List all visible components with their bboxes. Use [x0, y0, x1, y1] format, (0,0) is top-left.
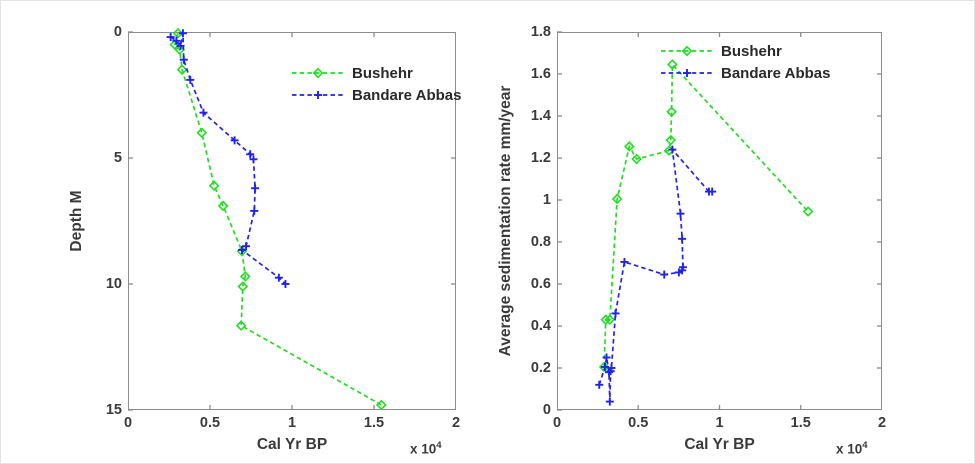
legend-sample-bandare-abbas — [291, 88, 345, 102]
x-tick-label: 2 — [452, 415, 460, 431]
legend-label-bushehr: Bushehr — [721, 43, 782, 60]
x-tick-label: 2 — [878, 415, 886, 431]
legend-sample-bushehr — [291, 66, 345, 80]
legend-entry-bushehr: Bushehr — [291, 62, 461, 84]
figure-root: 00.511.52051015 Cal Yr BP Depth M x 104 … — [0, 0, 975, 464]
x-tick-label: 0.5 — [628, 415, 648, 431]
plus-marker — [251, 184, 259, 192]
legend-sedrate: Bushehr Bandare Abbas — [660, 40, 830, 84]
plus-marker — [683, 69, 691, 77]
legend-line-sample — [660, 44, 714, 58]
chart-panel-depth: 00.511.52051015 Cal Yr BP Depth M x 104 … — [0, 0, 490, 464]
x-tick-label: 0 — [124, 415, 132, 431]
diamond-marker — [377, 401, 385, 409]
plus-marker — [612, 309, 620, 317]
exponent-power: 4 — [862, 440, 867, 451]
plus-marker — [603, 354, 611, 362]
legend-entry-bandare-abbas: Bandare Abbas — [291, 84, 461, 106]
x-axis-exponent-depth: x 104 — [410, 440, 442, 457]
legend-label-bandare-abbas: Bandare Abbas — [721, 65, 830, 82]
y-tick-label: 0.6 — [513, 276, 551, 292]
plus-marker — [677, 210, 685, 218]
y-tick-label: 10 — [84, 276, 122, 292]
y-tick-label: 0.4 — [513, 318, 551, 334]
plus-marker — [199, 109, 207, 117]
series-line-bandare-abbas — [171, 33, 286, 284]
y-axis-title-depth: Depth M — [68, 190, 86, 251]
x-tick-label: 1.5 — [364, 415, 384, 431]
plus-marker — [281, 280, 289, 288]
chart-panel-sedrate: 00.511.5200.20.40.60.811.21.41.61.8 Cal … — [485, 0, 975, 464]
plus-marker — [186, 76, 194, 84]
y-tick-label: 15 — [84, 402, 122, 418]
exponent-power: 4 — [436, 440, 441, 451]
y-tick-label: 1 — [513, 192, 551, 208]
x-tick-label: 1 — [288, 415, 296, 431]
y-tick-label: 5 — [84, 150, 122, 166]
exponent-base: x 10 — [836, 442, 862, 457]
y-axis-title-sedrate: Average sedimentation rate mm/year — [497, 86, 515, 357]
legend-sample-bushehr — [660, 44, 714, 58]
y-tick-label: 1.8 — [513, 24, 551, 40]
y-tick-label: 1.4 — [513, 108, 551, 124]
y-tick-label: 0.8 — [513, 234, 551, 250]
series-line-bandare-abbas — [599, 150, 712, 402]
plus-marker — [275, 274, 283, 282]
plus-marker — [314, 91, 322, 99]
legend-label-bushehr: Bushehr — [352, 65, 413, 82]
legend-entry-bushehr: Bushehr — [660, 40, 830, 62]
plus-marker — [660, 271, 668, 279]
series-line-bushehr — [604, 65, 808, 367]
y-tick-label: 1.2 — [513, 150, 551, 166]
plus-marker — [595, 381, 603, 389]
x-tick-label: 1 — [715, 415, 723, 431]
x-tick-label: 1.5 — [791, 415, 811, 431]
y-tick-label: 0 — [84, 24, 122, 40]
legend-line-sample — [660, 66, 714, 80]
legend-entry-bandare-abbas: Bandare Abbas — [660, 62, 830, 84]
legend-depth: Bushehr Bandare Abbas — [291, 62, 461, 106]
y-tick-label: 0 — [513, 402, 551, 418]
legend-line-sample — [291, 88, 345, 102]
x-axis-exponent-sedrate: x 104 — [836, 440, 868, 457]
plus-marker — [620, 258, 628, 266]
exponent-base: x 10 — [410, 442, 436, 457]
x-tick-label: 0 — [553, 415, 561, 431]
x-axis-title-sedrate: Cal Yr BP — [684, 436, 754, 454]
plus-marker — [678, 235, 686, 243]
y-tick-label: 1.6 — [513, 66, 551, 82]
legend-line-sample — [291, 66, 345, 80]
legend-label-bandare-abbas: Bandare Abbas — [352, 87, 461, 104]
plus-marker — [606, 398, 614, 406]
x-axis-title-depth: Cal Yr BP — [257, 436, 327, 454]
x-tick-label: 0.5 — [200, 415, 220, 431]
y-tick-label: 0.2 — [513, 360, 551, 376]
plus-marker — [250, 207, 258, 215]
legend-sample-bandare-abbas — [660, 66, 714, 80]
